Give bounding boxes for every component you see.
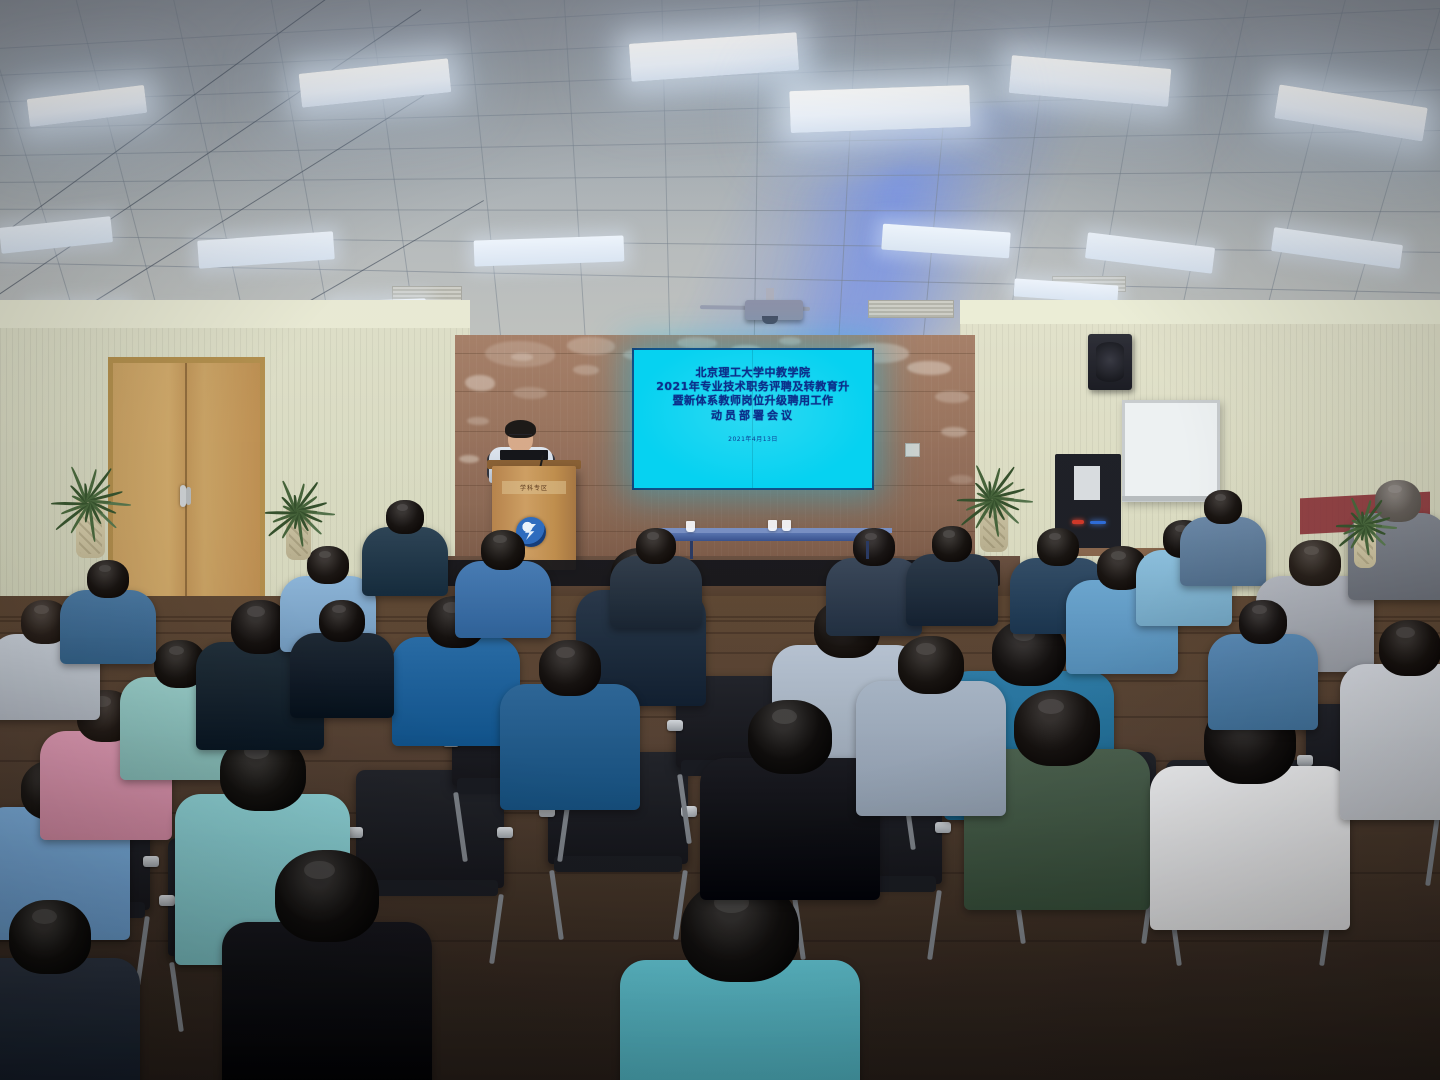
plant-leaf: [264, 511, 296, 515]
attendee-hair-highlight: [34, 605, 48, 614]
attendee-hair-highlight: [556, 647, 575, 658]
stage-table-leg: [690, 541, 693, 559]
attendee-torso: [0, 958, 140, 1080]
attendee-torso: [290, 633, 394, 718]
attendee-torso: [610, 556, 702, 628]
attendee-torso: [455, 561, 551, 638]
potted-bamboo-plant-left-2: [258, 448, 341, 558]
attendee-torso: [1150, 766, 1350, 930]
attendee-30: [1208, 600, 1318, 730]
attendee-32: [500, 640, 640, 810]
attendee-9: [362, 500, 448, 596]
attendee-torso: [60, 590, 156, 664]
attendee-29: [1340, 620, 1440, 820]
attendee-hair-highlight: [1111, 551, 1126, 560]
attendee-torso: [1208, 634, 1318, 730]
potted-bamboo-plant-far-right: [1330, 470, 1402, 566]
attendee-torso: [500, 684, 640, 810]
potted-bamboo-plant-left: [44, 430, 139, 556]
meeting-room-photo: 北京理工大学中教学院 2021年专业技术职务评聘及转教育升 暨新体系教师岗位升级…: [0, 0, 1440, 1080]
attendee-25: [1180, 490, 1266, 586]
attendee-19: [700, 700, 880, 900]
water-cup: [686, 521, 695, 532]
stage-table-leg: [866, 541, 869, 559]
attendee-12: [455, 530, 551, 638]
attendee-hair-highlight: [916, 643, 936, 655]
water-cup: [782, 520, 791, 531]
attendee-hair-highlight: [647, 532, 659, 539]
attendee-14: [610, 528, 702, 628]
attendee-hair-highlight: [772, 709, 797, 724]
attendee-15: [620, 880, 860, 1080]
attendee-torso: [222, 922, 432, 1080]
potted-bamboo-plant-right: [950, 430, 1040, 550]
attendee-torso: [906, 554, 998, 626]
attendee-26: [1150, 700, 1350, 930]
attendee-torso: [700, 758, 880, 900]
attendee-hair-highlight: [1252, 605, 1266, 614]
attendee-33: [0, 900, 140, 1080]
attendee-hair-highlight: [493, 535, 506, 543]
plant-leaf: [1336, 524, 1364, 528]
attendee-31: [290, 600, 394, 718]
attendee-6: [60, 560, 156, 664]
attendee-10: [222, 850, 432, 1080]
attendee-hair-highlight: [1215, 494, 1226, 501]
attendee-hair-highlight: [1304, 546, 1320, 555]
attendee-torso: [1180, 517, 1266, 586]
attendee-hair-highlight: [1396, 627, 1415, 638]
attendee-hair-highlight: [32, 909, 57, 924]
attendee-torso: [362, 527, 448, 596]
audience-layer: [0, 0, 1440, 1080]
attendee-torso: [856, 681, 1006, 816]
attendee-torso: [1340, 664, 1440, 820]
attendee-hair-highlight: [397, 504, 408, 511]
water-cup: [768, 520, 777, 531]
attendee-hair-highlight: [247, 606, 264, 617]
attendee-34: [856, 636, 1006, 816]
